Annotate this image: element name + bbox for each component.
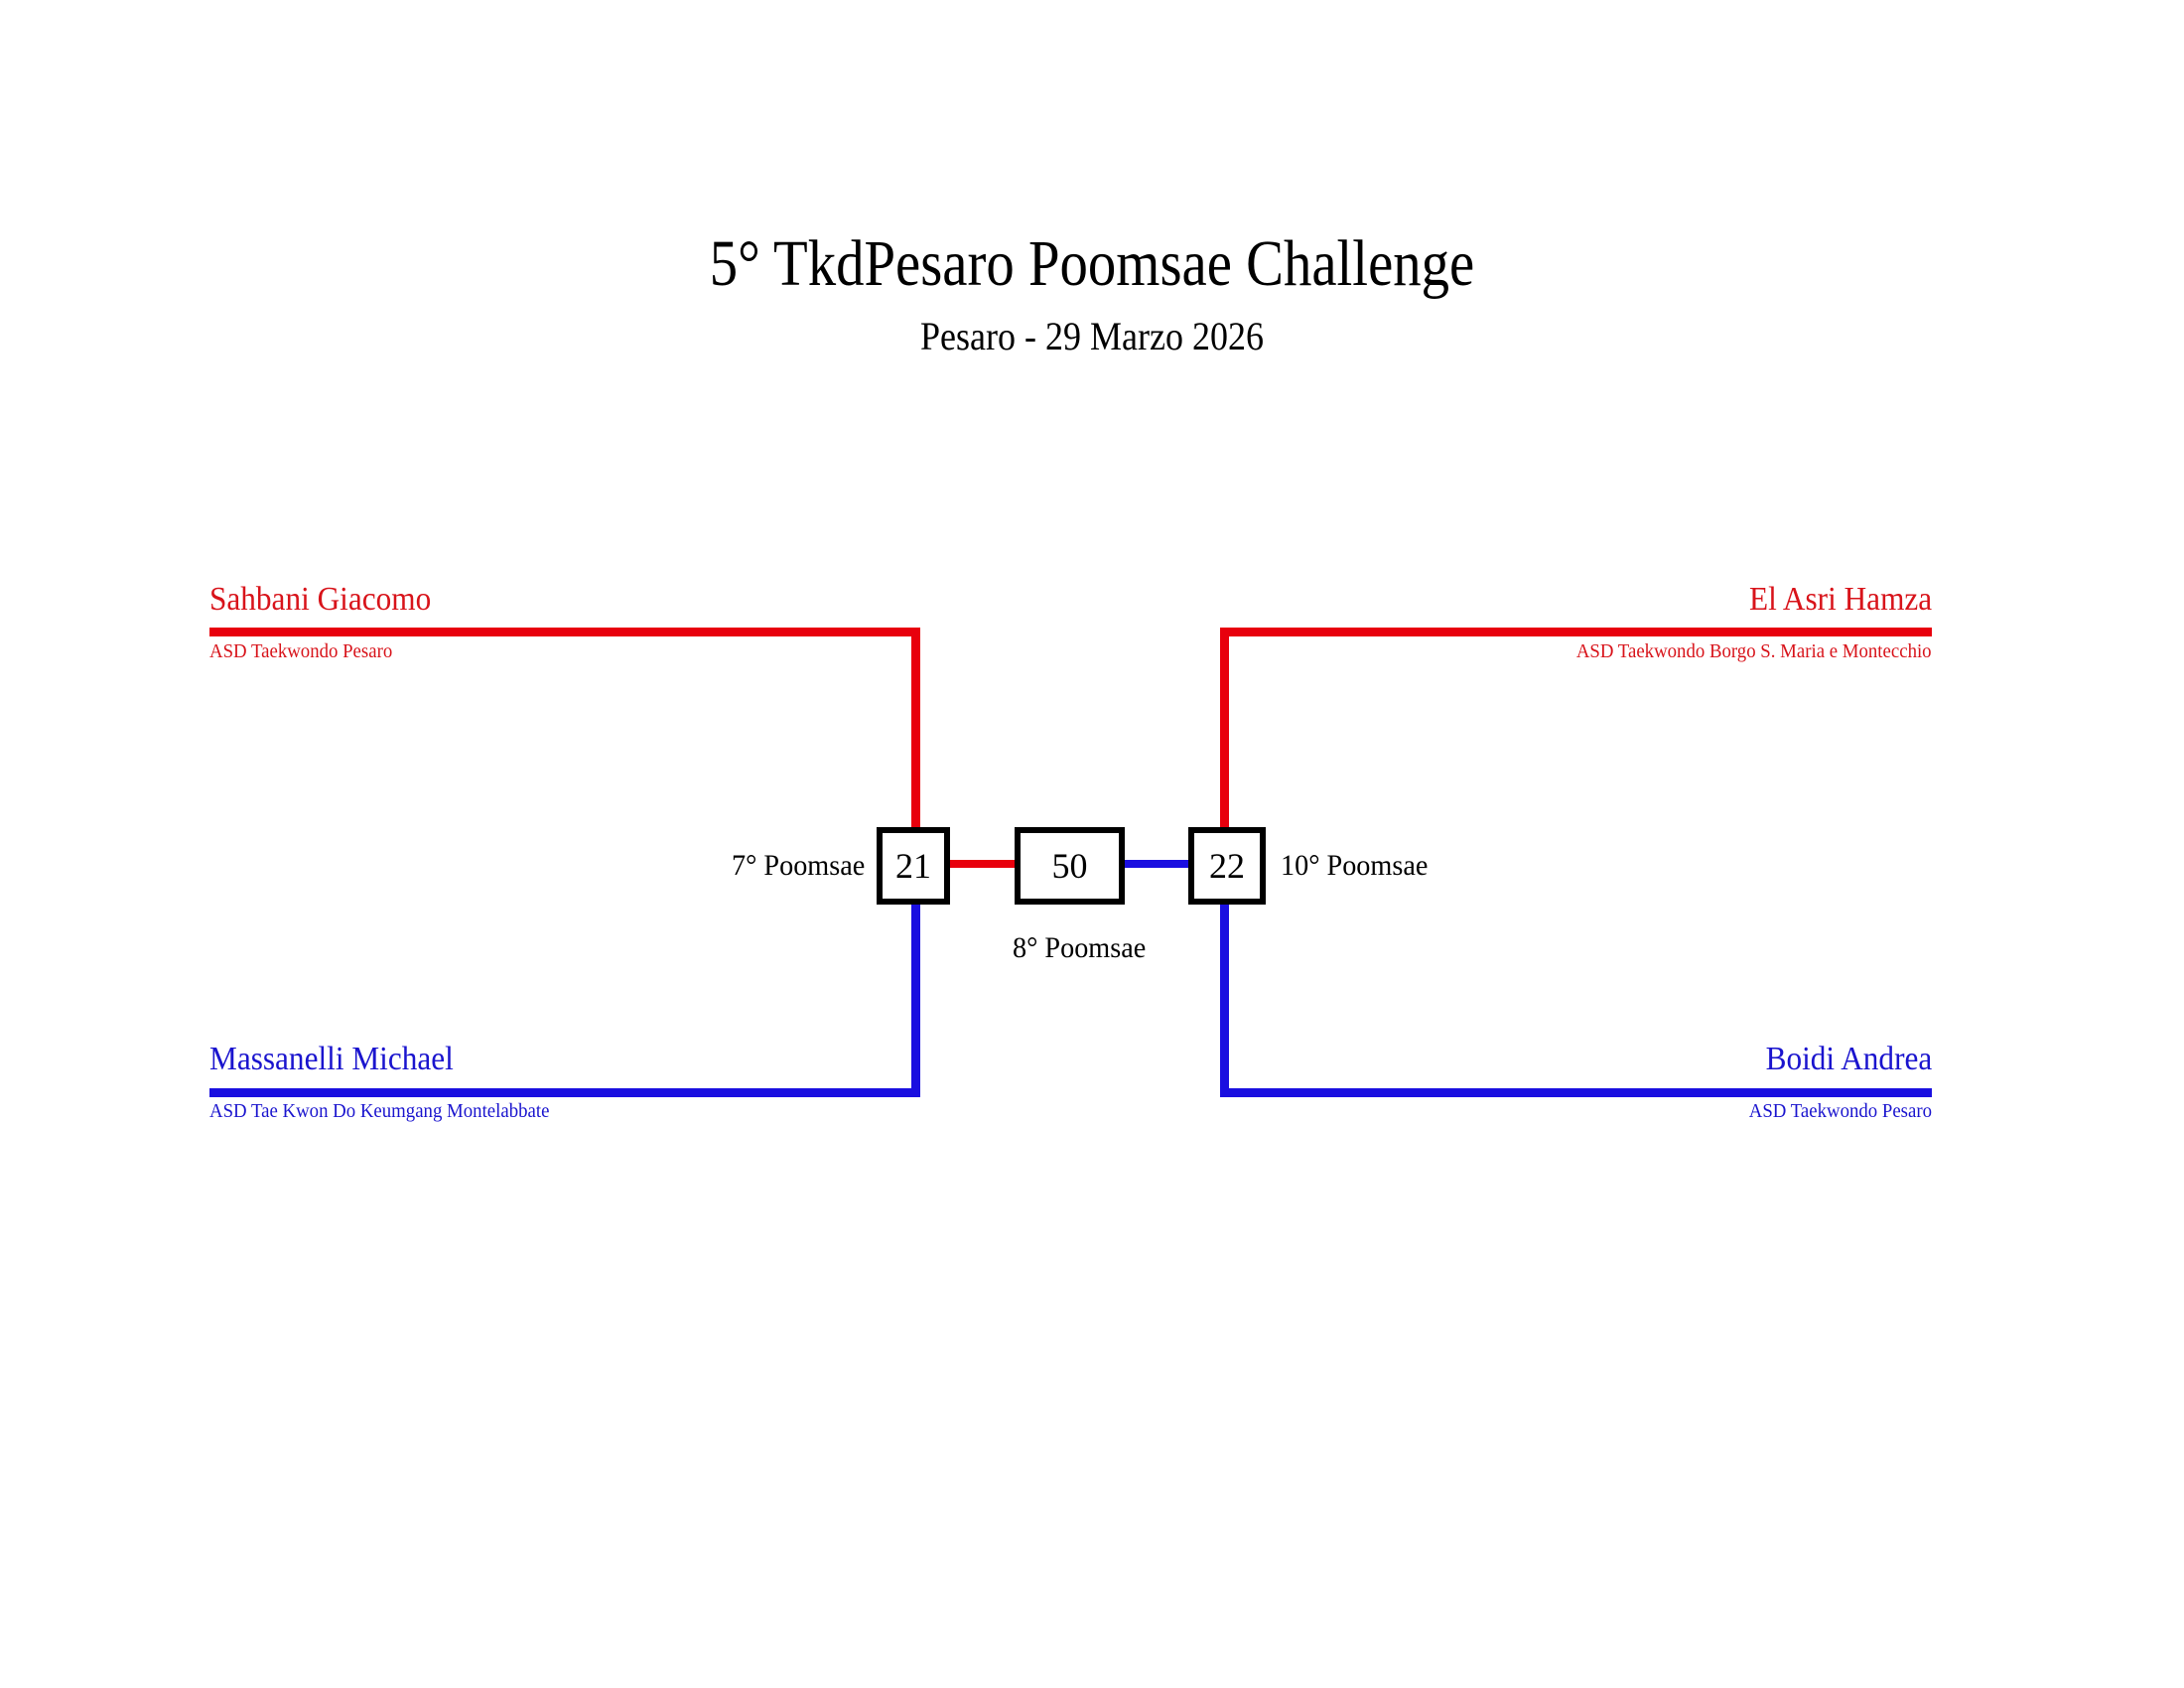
- bracket-line-top-left-horizontal: [209, 628, 920, 636]
- bracket-line-bottom-left-horizontal: [209, 1088, 920, 1097]
- match-box-right[interactable]: 22: [1188, 827, 1266, 905]
- competitor-club-bottom-left: ASD Tae Kwon Do Keumgang Montelabbate: [209, 1100, 549, 1123]
- competitor-club-bottom-right: ASD Taekwondo Pesaro: [1749, 1100, 1932, 1123]
- bracket-line-bottom-right-horizontal: [1220, 1088, 1932, 1097]
- competitor-name-bottom-right: Boidi Andrea: [1765, 1041, 1932, 1078]
- round-label-left: 7° Poomsae: [732, 849, 865, 883]
- competitor-name-top-right: El Asri Hamza: [1749, 581, 1932, 619]
- page-subtitle: Pesaro - 29 Marzo 2026: [109, 313, 2075, 359]
- bracket-line-top-left-vertical: [911, 628, 920, 829]
- page-title: 5° TkdPesaro Poomsae Challenge: [153, 226, 2031, 302]
- round-label-center: 8° Poomsae: [1013, 931, 1146, 965]
- bracket-page: 5° TkdPesaro Poomsae Challenge Pesaro - …: [0, 0, 2184, 1688]
- competitor-club-top-right: ASD Taekwondo Borgo S. Maria e Montecchi…: [1576, 640, 1932, 663]
- competitor-club-top-left: ASD Taekwondo Pesaro: [209, 640, 392, 663]
- competitor-name-top-left: Sahbani Giacomo: [209, 581, 431, 619]
- bracket-line-bottom-left-vertical: [911, 904, 920, 1097]
- competitor-name-bottom-left: Massanelli Michael: [209, 1041, 454, 1078]
- bracket-line-bottom-right-vertical: [1220, 904, 1229, 1097]
- bracket-line-top-right-vertical: [1220, 628, 1229, 829]
- match-box-center[interactable]: 50: [1015, 827, 1125, 905]
- match-box-left[interactable]: 21: [877, 827, 950, 905]
- bracket-line-top-right-horizontal: [1220, 628, 1932, 636]
- round-label-right: 10° Poomsae: [1281, 849, 1428, 883]
- bracket-connector-left: [947, 860, 1019, 868]
- bracket-connector-right: [1122, 860, 1193, 868]
